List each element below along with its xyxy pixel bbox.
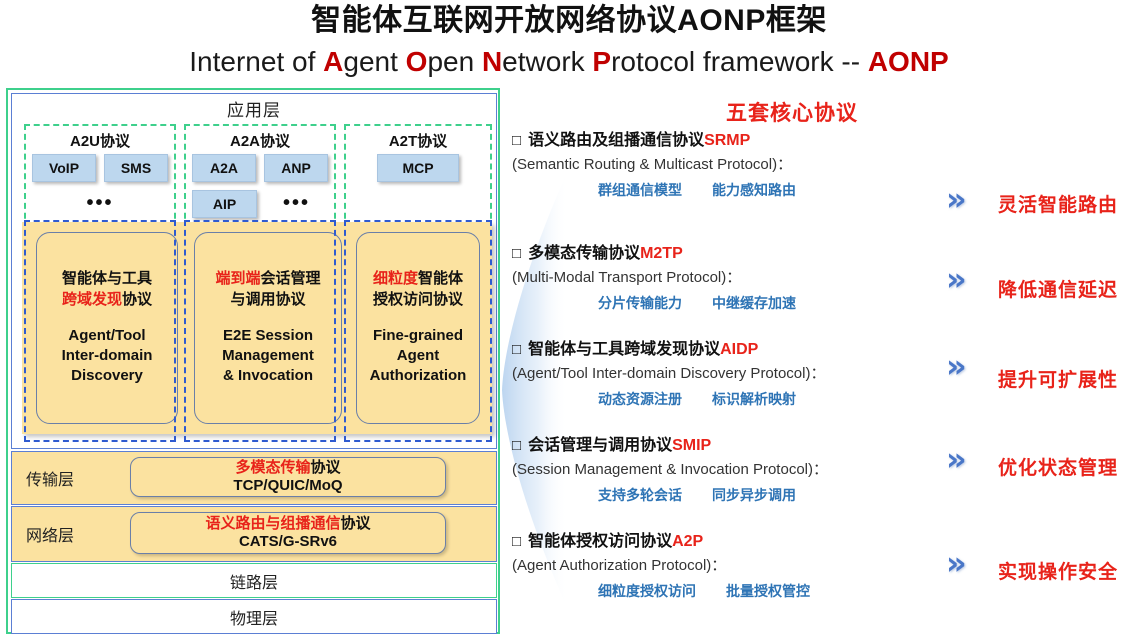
- core-en-line1: Fine-grained: [373, 327, 463, 344]
- page-title-chinese: 智能体互联网开放网络协议AONP框架: [0, 0, 1138, 36]
- title-highlight-letter: AONP: [868, 46, 949, 77]
- core-box-chinese: 端到端会话管理 与调用协议: [195, 269, 341, 310]
- chip-group: MCP: [352, 154, 484, 190]
- transport-card-highlight: 多模态传输: [235, 459, 310, 476]
- core-en-line1: Agent/Tool: [68, 327, 145, 344]
- core-en-line1: E2E Session: [223, 327, 313, 344]
- core-box-english: E2E Session Management & Invocation: [195, 326, 341, 387]
- transport-layer-row: 传输层 多模态传输协议 TCP/QUIC/MoQ: [11, 451, 497, 505]
- core-text-highlight: 跨域发现: [62, 291, 122, 308]
- network-card-line2: CATS/G-SRv6: [131, 533, 445, 551]
- protocol-name-cn: 智能体与工具跨域发现协议: [528, 341, 720, 358]
- transport-card-line2: TCP/QUIC/MoQ: [131, 477, 445, 495]
- transport-layer-label: 传输层: [26, 466, 74, 490]
- network-protocol-card: 语义路由与组播通信协议 CATS/G-SRv6: [130, 512, 446, 554]
- core-text-line1: 会话管理: [261, 270, 321, 287]
- protocol-tag: 标识解析映射: [712, 389, 796, 409]
- benefit-label-aidp: 提升可扩展性: [998, 365, 1118, 392]
- title-plain-text: rotocol framework --: [611, 46, 868, 77]
- chip-sms[interactable]: SMS: [104, 154, 168, 182]
- ellipsis-icon: •••: [32, 190, 168, 216]
- title-highlight-letter: N: [482, 46, 502, 77]
- core-en-line3: & Invocation: [223, 367, 313, 384]
- checkbox-square-icon: □: [512, 245, 521, 262]
- core-text-line2: 与调用协议: [230, 291, 305, 308]
- core-box-session: 端到端会话管理 与调用协议 E2E Session Management & I…: [194, 232, 342, 424]
- protocol-name-cn: 智能体授权访问协议: [528, 533, 672, 550]
- protocol-stack-diagram: 应用层 A2U协议 VoIP SMS ••• A2A协议 A2A ANP: [6, 88, 500, 634]
- protocol-tag: 群组通信模型: [598, 180, 682, 200]
- protocol-tag: 动态资源注册: [598, 389, 682, 409]
- transport-card-suffix: 协议: [311, 459, 341, 476]
- protocol-tag: 中继缓存加速: [712, 293, 796, 313]
- link-layer-label: 链路层: [12, 569, 496, 593]
- chevron-right-icon: »: [946, 350, 967, 382]
- core-protocols-panel: 五套核心协议 □语义路由及组播通信协议SRMP (Semantic Routin…: [512, 95, 1138, 642]
- core-box-discovery: 智能体与工具 跨域发现协议 Agent/Tool Inter-domain Di…: [36, 232, 178, 424]
- protocol-abbr: SMIP: [672, 437, 711, 454]
- core-text-line2: 授权访问协议: [373, 291, 463, 308]
- chip-voip[interactable]: VoIP: [32, 154, 96, 182]
- protocol-column-title: A2T协议: [346, 130, 490, 151]
- title-block: 智能体互联网开放网络协议AONP框架 Internet of Agent Ope…: [0, 0, 1138, 86]
- chip-row: VoIP SMS: [32, 154, 168, 182]
- chip-row: MCP: [352, 154, 484, 182]
- transport-protocol-card: 多模态传输协议 TCP/QUIC/MoQ: [130, 457, 446, 497]
- core-box-english: Fine-grained Agent Authorization: [357, 326, 479, 387]
- chevron-right-icon: »: [946, 443, 967, 475]
- protocol-abbr: AIDP: [720, 341, 758, 358]
- title-highlight-letter: P: [592, 46, 611, 77]
- title-plain-text: pen: [427, 46, 482, 77]
- protocol-tag: 能力感知路由: [712, 180, 796, 200]
- protocol-tag: 分片传输能力: [598, 293, 682, 313]
- core-box-authorization: 细粒度智能体 授权访问协议 Fine-grained Agent Authori…: [356, 232, 480, 424]
- protocol-tags: 支持多轮会话同步异步调用: [512, 485, 1138, 505]
- chip-row: A2A ANP: [192, 154, 328, 182]
- checkbox-square-icon: □: [512, 341, 521, 358]
- chevron-right-icon: »: [946, 263, 967, 295]
- title-plain-text: gent: [343, 46, 405, 77]
- protocol-name-en: (Semantic Routing & Multicast Protocol)：: [512, 155, 1138, 175]
- network-layer-label: 网络层: [26, 522, 74, 546]
- core-box-chinese: 智能体与工具 跨域发现协议: [37, 269, 177, 310]
- network-layer-row: 网络层 语义路由与组播通信协议 CATS/G-SRv6: [11, 506, 497, 562]
- physical-layer-label: 物理层: [12, 605, 496, 629]
- core-text-line1: 智能体: [418, 270, 463, 287]
- title-highlight-letter: O: [406, 46, 428, 77]
- chip-mcp[interactable]: MCP: [377, 154, 459, 182]
- protocol-head: □多模态传输协议M2TP: [512, 244, 1138, 264]
- protocol-tag: 支持多轮会话: [598, 485, 682, 505]
- protocol-tag: 同步异步调用: [712, 485, 796, 505]
- network-card-suffix: 协议: [341, 515, 371, 532]
- protocol-name-cn: 会话管理与调用协议: [528, 437, 672, 454]
- chevron-right-icon: »: [946, 183, 967, 215]
- protocol-name-cn: 多模态传输协议: [528, 245, 640, 262]
- core-en-line2: Management: [222, 347, 314, 364]
- chip-row: •••: [32, 190, 168, 216]
- benefit-label-a2p: 实现操作安全: [998, 557, 1118, 584]
- core-protocols-heading: 五套核心协议: [512, 97, 1072, 127]
- application-layer-label: 应用层: [12, 96, 496, 121]
- chip-group: VoIP SMS •••: [32, 154, 168, 224]
- checkbox-square-icon: □: [512, 533, 521, 550]
- page-title-english: Internet of Agent Open Network Protocol …: [0, 36, 1138, 76]
- core-protocol-band: 智能体与工具 跨域发现协议 Agent/Tool Inter-domain Di…: [22, 222, 492, 434]
- chip-group: A2A ANP AIP •••: [192, 154, 328, 226]
- core-box-chinese: 细粒度智能体 授权访问协议: [357, 269, 479, 310]
- ellipsis-icon: •••: [265, 190, 328, 218]
- transport-card-line1: 多模态传输协议: [131, 459, 445, 477]
- protocol-name-cn: 语义路由及组播通信协议: [528, 132, 704, 149]
- core-box-english: Agent/Tool Inter-domain Discovery: [37, 326, 177, 387]
- benefit-label-srmp: 灵活智能路由: [998, 190, 1118, 217]
- chip-anp[interactable]: ANP: [264, 154, 328, 182]
- benefit-label-smip: 优化状态管理: [998, 453, 1118, 480]
- application-layer-box: 应用层 A2U协议 VoIP SMS ••• A2A协议 A2A ANP: [11, 93, 497, 449]
- core-text-line2: 协议: [122, 291, 152, 308]
- protocol-column-title: A2A协议: [186, 130, 334, 151]
- checkbox-square-icon: □: [512, 437, 521, 454]
- benefit-label-m2tp: 降低通信延迟: [998, 275, 1118, 302]
- title-plain-text: Internet of: [189, 46, 323, 77]
- title-highlight-letter: A: [323, 46, 343, 77]
- protocol-abbr: A2P: [672, 533, 703, 550]
- protocol-abbr: SRMP: [704, 132, 750, 149]
- protocol-column-title: A2U协议: [26, 130, 174, 151]
- protocol-head: □智能体授权访问协议A2P: [512, 532, 1138, 552]
- physical-layer-row: 物理层: [11, 599, 497, 634]
- core-text-line1: 智能体与工具: [62, 270, 152, 287]
- title-plain-text: etwork: [502, 46, 592, 77]
- link-layer-row: 链路层: [11, 563, 497, 598]
- core-en-line3: Discovery: [71, 367, 143, 384]
- protocol-abbr: M2TP: [640, 245, 683, 262]
- core-en-line2: Inter-domain: [62, 347, 153, 364]
- chevron-right-icon: »: [946, 547, 967, 579]
- chip-row: AIP •••: [192, 190, 328, 218]
- core-en-line2: Agent: [397, 347, 440, 364]
- chip-aip[interactable]: AIP: [192, 190, 257, 218]
- protocol-tag: 批量授权管控: [726, 581, 810, 601]
- network-card-highlight: 语义路由与组播通信: [205, 515, 340, 532]
- core-text-highlight: 端到端: [215, 270, 260, 287]
- checkbox-square-icon: □: [512, 132, 521, 149]
- core-text-highlight: 细粒度: [373, 270, 418, 287]
- protocol-head: □语义路由及组播通信协议SRMP: [512, 131, 1138, 151]
- protocol-tag: 细粒度授权访问: [598, 581, 696, 601]
- protocol-head: □智能体与工具跨域发现协议AIDP: [512, 340, 1138, 360]
- core-en-line3: Authorization: [370, 367, 467, 384]
- chip-a2a[interactable]: A2A: [192, 154, 256, 182]
- network-card-line1: 语义路由与组播通信协议: [131, 515, 445, 533]
